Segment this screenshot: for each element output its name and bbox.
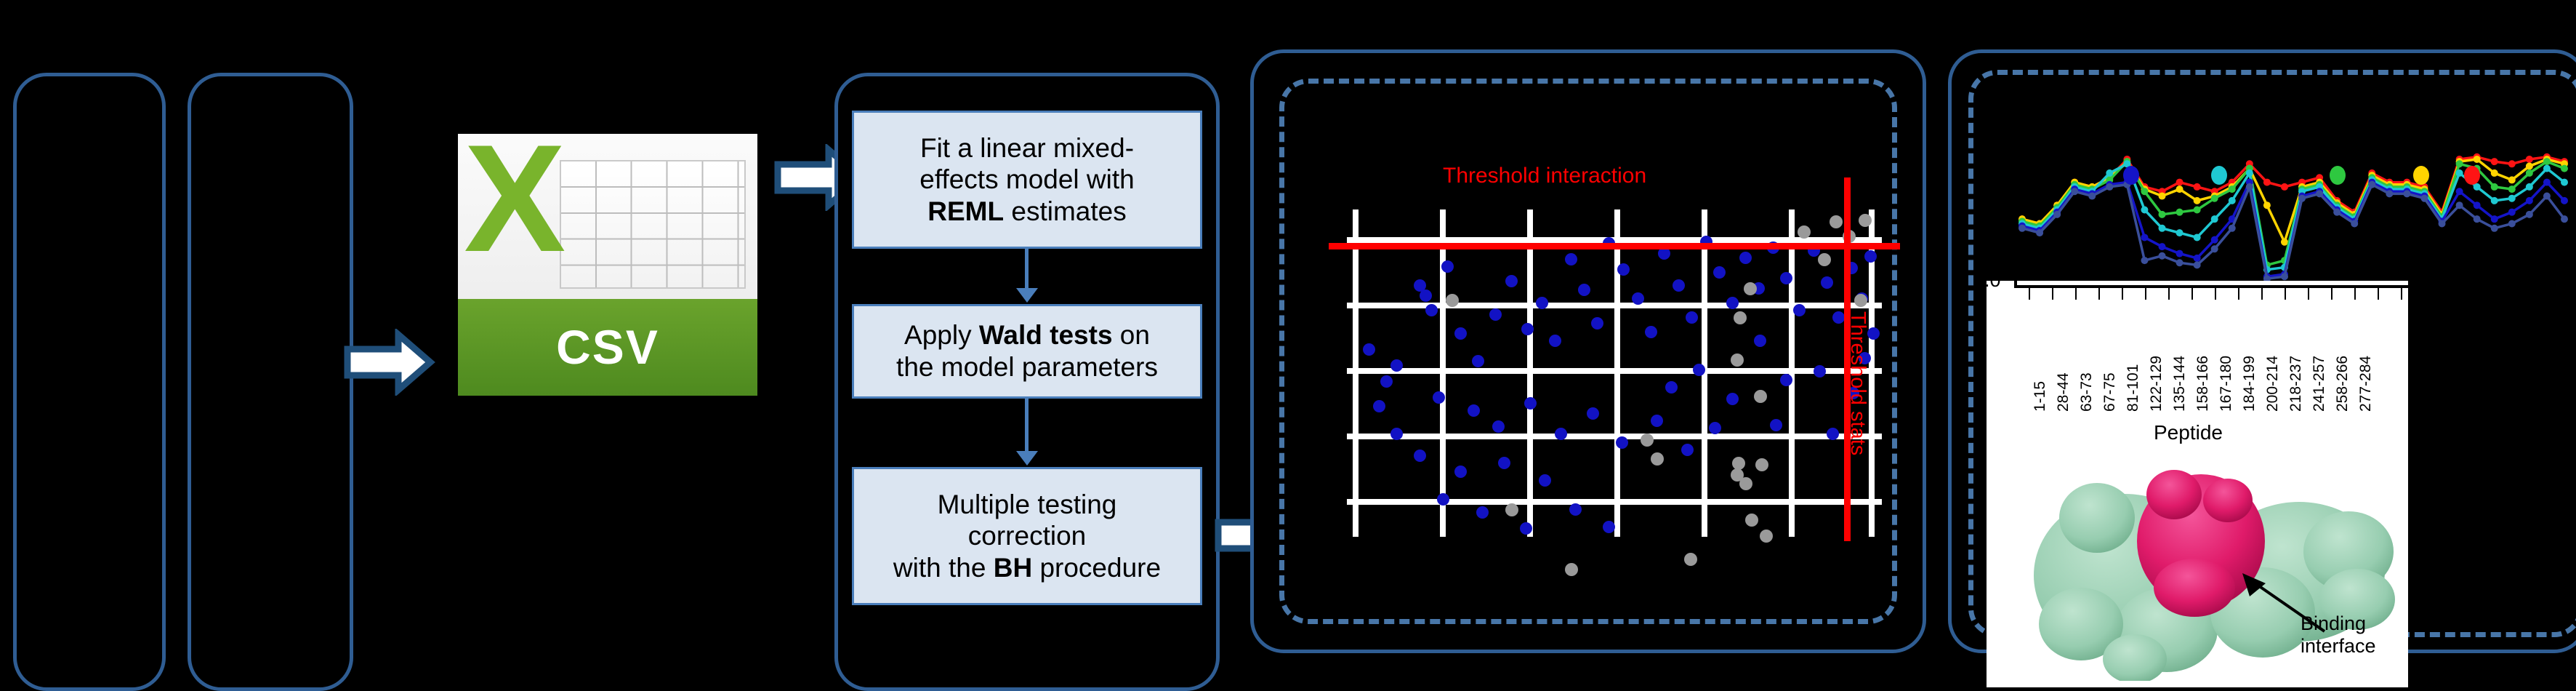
step-fit-model-text: Fit a linear mixed-effects model withREM… (919, 132, 1134, 228)
data-point (1390, 359, 1403, 372)
line-marker (2159, 225, 2166, 232)
connector-1 (1025, 249, 1029, 291)
line-marker (2526, 197, 2533, 204)
x-axis-tick-label: 258-266 (2334, 356, 2351, 412)
data-point (1492, 420, 1505, 433)
data-point (1770, 419, 1782, 431)
data-point-ns (1734, 311, 1747, 324)
step-multiple-testing[interactable]: Multiple testingcorrectionwith the BH pr… (852, 467, 1202, 605)
data-point (1468, 404, 1480, 417)
line-marker (2281, 273, 2288, 280)
line-marker (2018, 225, 2026, 232)
data-point (1591, 317, 1603, 329)
volcano-plot (1347, 209, 1882, 537)
connector-arrow-2 (1016, 451, 1038, 466)
x-axis-tick-label: 277-284 (2357, 356, 2375, 412)
data-point-ns (1505, 503, 1518, 516)
data-point (1425, 304, 1438, 316)
data-point (1472, 355, 1484, 367)
line-marker (2159, 193, 2166, 200)
binding-interface-line1: Binding (2301, 612, 2376, 635)
line-series-navy (2022, 185, 2564, 279)
data-point (1821, 276, 1833, 289)
csv-icon-sheet: X (458, 134, 757, 299)
line-marker (2543, 193, 2551, 200)
x-axis-tick-label: 28-44 (2055, 372, 2072, 412)
line-marker (2526, 156, 2533, 163)
step-fit-model[interactable]: Fit a linear mixed-effects model withREM… (852, 111, 1202, 249)
connector-2 (1025, 399, 1029, 454)
volcano-gridlines (1347, 209, 1882, 537)
threshold-interaction-label: Threshold interaction (1443, 164, 1646, 188)
line-marker (2176, 250, 2183, 257)
data-point (1476, 506, 1489, 519)
line-marker (2561, 215, 2568, 223)
line-marker (2263, 201, 2271, 209)
line-marker (2456, 160, 2463, 167)
x-axis-tick-label: 184-199 (2241, 356, 2258, 412)
x-axis-tick-label: 167-180 (2218, 356, 2235, 412)
data-point-ns (1565, 563, 1578, 576)
line-marker (2386, 190, 2393, 197)
line-marker (2229, 225, 2236, 232)
gridline-h (1347, 434, 1882, 439)
data-point (1521, 323, 1534, 335)
line-marker (2211, 245, 2218, 252)
data-point (1555, 428, 1567, 440)
data-point (1454, 466, 1467, 478)
data-point (1437, 493, 1449, 506)
data-point-ns (1684, 553, 1697, 566)
data-point-ns (1731, 354, 1744, 367)
line-marker (2106, 169, 2113, 177)
figure-root: X CSV Fit a linear mixed-effects model w… (0, 0, 2576, 687)
line-marker (2211, 195, 2218, 202)
peptide-line-chart-svg (2006, 132, 2576, 294)
line-marker (2141, 207, 2148, 214)
step-wald-tests-text: Apply Wald tests onthe model parameters (896, 319, 1158, 383)
data-point (1681, 444, 1694, 456)
data-point (1739, 252, 1752, 264)
data-point (1587, 407, 1599, 420)
data-point (1709, 422, 1721, 434)
panel-input (13, 73, 166, 691)
data-point-ns (1754, 390, 1767, 403)
line-marker (2194, 233, 2201, 241)
x-axis-ticks (1987, 281, 2408, 298)
line-marker (2333, 209, 2340, 216)
data-point-ns (1798, 225, 1811, 239)
data-point (1390, 428, 1403, 440)
data-point (1489, 308, 1502, 321)
data-point (1726, 297, 1739, 309)
line-marker (2526, 211, 2533, 218)
line-marker (2159, 252, 2166, 260)
data-point (1673, 279, 1685, 292)
connector-arrow-1 (1016, 288, 1038, 303)
data-point (1433, 391, 1445, 404)
gridline-h (1347, 368, 1882, 374)
line-marker (2474, 156, 2481, 163)
data-point (1693, 364, 1705, 376)
line-marker (2508, 209, 2516, 216)
data-point (1665, 381, 1678, 394)
data-point (1505, 275, 1518, 287)
data-point (1441, 260, 1454, 273)
data-point (1565, 253, 1577, 265)
data-point (1373, 400, 1385, 412)
data-point (1864, 250, 1877, 263)
data-point-ns (1755, 458, 1768, 471)
line-marker (2036, 229, 2043, 236)
line-marker (2159, 243, 2166, 250)
line-marker (2456, 201, 2463, 209)
data-point-ns (1641, 434, 1654, 447)
x-axis-title: Peptide (2154, 421, 2223, 444)
x-axis-tick-label: 241-257 (2311, 356, 2328, 412)
line-marker (2263, 179, 2271, 186)
line-marker (2298, 195, 2306, 202)
step-line: the model parameters (896, 351, 1158, 383)
legend-dot-red (2464, 166, 2480, 185)
legend-dot-cyan (2211, 166, 2227, 185)
csv-icon-letter-x: X (464, 137, 608, 299)
data-point (1617, 263, 1630, 276)
line-marker (2368, 181, 2375, 188)
line-marker (2281, 183, 2288, 191)
line-marker (2508, 176, 2516, 183)
data-point (1726, 393, 1739, 405)
line-marker (2141, 188, 2148, 195)
line-marker (2508, 160, 2516, 167)
panel-csv (188, 73, 353, 691)
data-point (1520, 522, 1532, 535)
line-marker (2176, 209, 2183, 216)
line-marker (2159, 211, 2166, 218)
data-point-ns (1651, 452, 1664, 466)
data-point (1616, 436, 1628, 449)
line-marker (2246, 169, 2253, 177)
line-marker (2474, 215, 2481, 223)
line-marker (2420, 195, 2428, 202)
line-marker (2491, 197, 2498, 204)
x-axis-tick-label: 81-101 (2125, 364, 2142, 412)
data-point (1569, 503, 1582, 516)
data-point (1380, 375, 1393, 388)
peptide-line-chart (2006, 132, 2576, 294)
x-axis-tick-label: 67-75 (2101, 372, 2119, 412)
step-multiple-testing-text: Multiple testingcorrectionwith the BH pr… (893, 489, 1161, 584)
data-point-ns (1745, 514, 1758, 527)
data-point (1686, 311, 1698, 324)
data-point-ns (1854, 294, 1867, 307)
data-point (1793, 304, 1806, 316)
step-line: with the BH procedure (893, 552, 1161, 584)
line-marker (2526, 183, 2533, 191)
step-line: Fit a linear mixed- (919, 132, 1134, 164)
line-marker (2088, 193, 2096, 200)
line-marker (2474, 201, 2481, 209)
csv-icon-format-label: CSV (556, 319, 659, 375)
line-marker (2543, 158, 2551, 165)
line-marker (2071, 188, 2078, 195)
x-axis-tick-label: 63-73 (2078, 372, 2096, 412)
line-marker (2543, 179, 2551, 186)
line-marker (2526, 169, 2533, 177)
line-marker (2508, 220, 2516, 227)
line-marker (2176, 229, 2183, 236)
data-point (1539, 474, 1551, 487)
csv-file-icon: X CSV (458, 134, 757, 396)
results-inset: 0.0 1-1528-4463-7367-7581-101122-129135-… (1987, 281, 2408, 687)
line-marker (2194, 197, 2201, 204)
line-marker (2229, 185, 2236, 193)
line-marker (2491, 183, 2498, 191)
line-marker (2176, 259, 2183, 266)
data-point-ns (1739, 477, 1752, 490)
arrow-input-to-csv (342, 329, 436, 396)
line-marker (2491, 169, 2498, 177)
x-axis-tick-label: 158-166 (2194, 356, 2212, 412)
step-line: Multiple testing (893, 489, 1161, 521)
data-point (1454, 327, 1467, 340)
threshold-interaction-line (1329, 243, 1900, 249)
data-point (1814, 365, 1826, 378)
line-marker (2456, 169, 2463, 177)
line-marker (2351, 220, 2358, 227)
data-point-ns (1830, 215, 1843, 228)
line-marker (2246, 183, 2253, 191)
data-point (1780, 374, 1792, 386)
x-axis-tick-label: 200-214 (2264, 356, 2282, 412)
data-point-ns (1818, 253, 1831, 266)
data-point (1645, 326, 1657, 338)
x-axis-tick-label: 218-237 (2287, 356, 2305, 412)
step-line: REML estimates (919, 196, 1134, 228)
data-point (1632, 292, 1644, 305)
threshold-stats-label: Threshold stats (1846, 311, 1869, 455)
line-marker (2281, 239, 2288, 246)
x-axis-tick-label: 1-15 (2032, 381, 2049, 412)
data-point (1713, 266, 1726, 279)
line-marker (2194, 207, 2201, 214)
x-axis-tick-label: 122-129 (2148, 356, 2165, 412)
data-point (1498, 457, 1510, 469)
step-wald-tests[interactable]: Apply Wald tests onthe model parameters (852, 304, 1202, 399)
step-line: effects model with (919, 164, 1134, 196)
data-point-ns (1446, 294, 1459, 307)
data-point (1780, 272, 1792, 284)
line-marker (2176, 179, 2183, 186)
line-marker (2543, 165, 2551, 172)
legend-dot-blue (2123, 166, 2139, 185)
data-point (1524, 397, 1537, 410)
binding-interface-line2: interface (2301, 635, 2376, 658)
line-series-blue (2022, 183, 2564, 277)
data-point (1651, 415, 1663, 427)
data-point-ns (1744, 282, 1757, 295)
data-point (1827, 428, 1839, 440)
line-marker (2053, 211, 2061, 218)
line-marker (2141, 233, 2148, 241)
line-marker (2229, 197, 2236, 204)
data-point (1832, 311, 1845, 324)
line-marker (2508, 195, 2516, 202)
step-line: correction (893, 520, 1161, 552)
line-marker (2508, 185, 2516, 193)
csv-icon-format-band: CSV (458, 299, 757, 396)
gridline-h (1347, 499, 1882, 505)
data-point (1420, 289, 1432, 302)
x-axis-tick-label: 135-144 (2171, 356, 2189, 412)
line-marker (2561, 179, 2568, 186)
line-marker (2194, 261, 2201, 268)
line-marker (2211, 215, 2218, 223)
line-marker (2526, 162, 2533, 169)
line-marker (2194, 255, 2201, 262)
legend-dot-yellow (2413, 166, 2429, 185)
data-point (1603, 521, 1615, 533)
line-marker (2561, 165, 2568, 172)
line-marker (2491, 158, 2498, 165)
line-marker (2141, 257, 2148, 264)
line-marker (2211, 236, 2218, 244)
line-marker (2403, 190, 2410, 197)
line-marker (2491, 215, 2498, 223)
line-marker (2316, 190, 2323, 197)
data-point (1414, 450, 1426, 462)
data-point (1536, 297, 1548, 309)
data-point (1363, 343, 1375, 356)
step-line: Apply Wald tests on (896, 319, 1158, 351)
data-point (1754, 335, 1766, 347)
data-point-ns (1859, 214, 1872, 227)
line-marker (2106, 183, 2113, 191)
line-marker (2491, 225, 2498, 232)
binding-interface-label: Binding interface (2301, 612, 2376, 658)
line-marker (2561, 197, 2568, 204)
legend-dot-green (2330, 166, 2346, 185)
data-point (1549, 335, 1561, 347)
line-marker (2456, 188, 2463, 195)
data-point-ns (1760, 530, 1773, 543)
line-marker (2176, 185, 2183, 193)
data-point (1578, 284, 1590, 296)
line-marker (2439, 220, 2446, 227)
line-marker (2194, 183, 2201, 191)
